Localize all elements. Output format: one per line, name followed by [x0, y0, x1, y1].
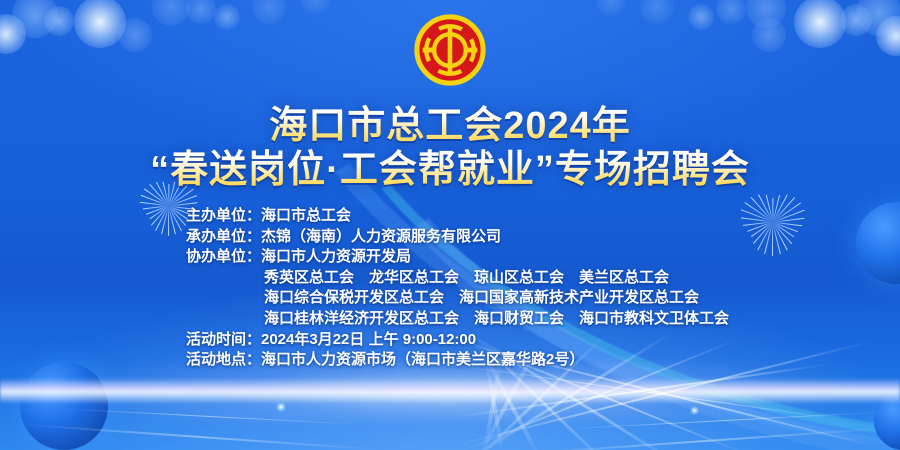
floor-streak [60, 408, 360, 425]
bokeh-dot [640, 0, 674, 24]
decor-sphere-bottom-right [874, 392, 900, 450]
recruitment-poster: 海口市总工会2024年 “春送岗位·工会帮就业”专场招聘会 主办单位：海口市总工… [0, 0, 900, 450]
horizon-glow [0, 362, 900, 422]
horizon-line [0, 378, 900, 404]
floor-spark [276, 402, 286, 412]
bokeh-dot [300, 0, 330, 14]
floor-streak [452, 364, 848, 421]
acftu-union-emblem-icon [414, 14, 486, 86]
poster-details-block: 主办单位：海口市总工会承办单位：杰锦（海南）人力资源服务有限公司协办单位：海口市… [0, 206, 900, 371]
bokeh-dot [746, 0, 786, 28]
title-line-2: “春送岗位·工会帮就业”专场招聘会 [0, 148, 900, 192]
bokeh-dot [752, 18, 786, 52]
floor-streak [484, 359, 504, 450]
bokeh-dot [716, 0, 746, 24]
detail-row: 海口桂林洋经济开发区总工会 海口财贸工会 海口市教科文卫体工会 [0, 309, 900, 330]
floor-streak [452, 364, 829, 418]
floor-streak [20, 423, 379, 450]
floor-spark [690, 406, 699, 415]
decor-sphere-left [20, 362, 108, 450]
bokeh-dot [252, 0, 286, 24]
firework-ray [168, 195, 196, 207]
bokeh-dot [688, 4, 714, 30]
detail-row: 承办单位：杰锦（海南）人力资源服务有限公司 [0, 227, 900, 248]
detail-row: 活动时间：2024年3月22日 上午 9:00-12:00 [0, 330, 900, 351]
poster-title-block: 海口市总工会2024年 “春送岗位·工会帮就业”专场招聘会 [0, 104, 900, 192]
detail-row: 协办单位：海口市人力资源开发局 [0, 247, 900, 268]
firework-ray [141, 195, 169, 207]
bokeh-dot [856, 0, 900, 36]
bokeh-dot [794, 0, 846, 48]
detail-row: 海口综合保税开发区总工会 海口国家高新技术产业开发区总工会 [0, 288, 900, 309]
bokeh-dot [876, 16, 900, 56]
floor-streak [560, 411, 890, 430]
bokeh-dot [186, 0, 216, 24]
bokeh-dot [214, 4, 240, 30]
bokeh-dot [12, 0, 58, 38]
floor-streak [520, 427, 889, 450]
bokeh-dot [118, 18, 152, 52]
floor-streak [483, 359, 503, 448]
bokeh-dot [596, 0, 626, 16]
bokeh-dot [74, 0, 126, 48]
bokeh-dot [0, 14, 26, 54]
bokeh-dot [840, 4, 872, 36]
bokeh-dot [44, 6, 74, 36]
detail-row: 秀英区总工会 龙华区总工会 琼山区总工会 美兰区总工会 [0, 268, 900, 289]
bokeh-dot [152, 0, 190, 26]
detail-row: 活动地点：海口市人力资源市场（海口市美兰区嘉华路2号） [0, 350, 900, 371]
detail-row: 主办单位：海口市总工会 [0, 206, 900, 227]
title-line-1: 海口市总工会2024年 [0, 104, 900, 148]
